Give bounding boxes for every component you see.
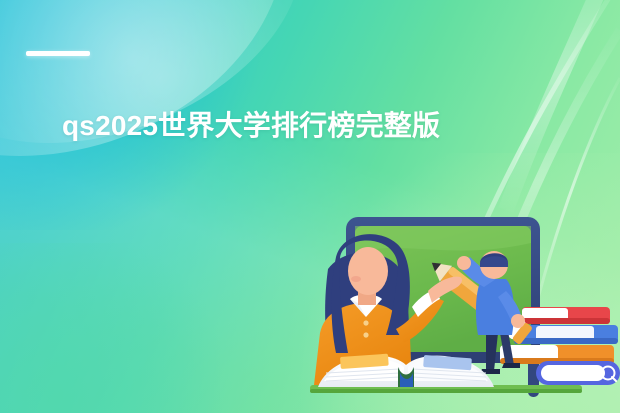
page-title: qs2025世界大学排行榜完整版 <box>62 106 532 146</box>
search-bar[interactable] <box>536 361 620 385</box>
title-accent-rule <box>26 51 90 56</box>
education-illustration <box>300 195 620 413</box>
background-glow-bottom-left <box>0 243 220 413</box>
banner-root: qs2025世界大学排行榜完整版 <box>0 0 620 413</box>
